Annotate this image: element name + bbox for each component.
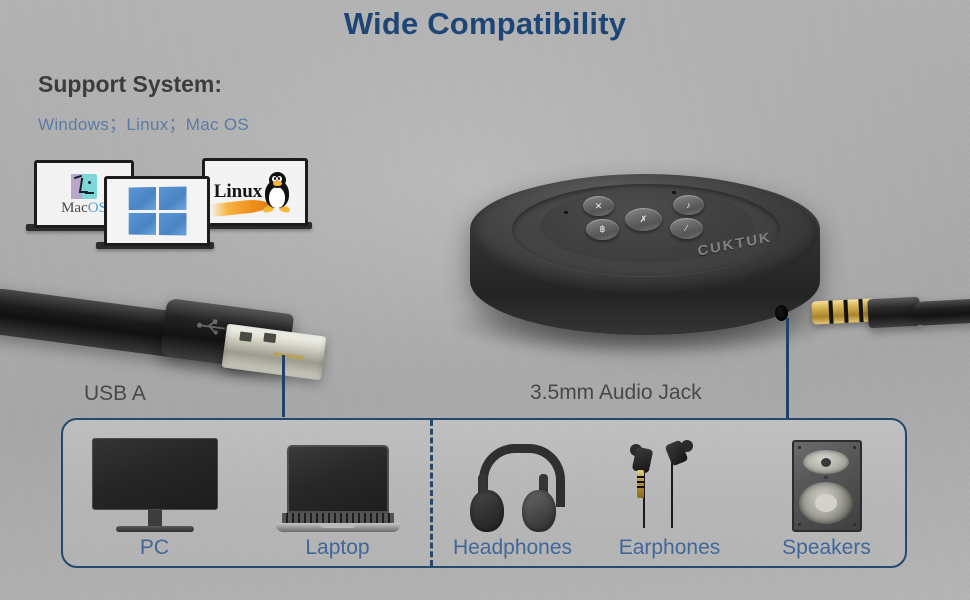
usb-device-row: PC Laptop — [63, 420, 429, 566]
device-button-power[interactable]: ∕ — [670, 218, 703, 239]
jack-leader-line — [786, 318, 789, 418]
mac-finder-face-icon — [71, 174, 97, 199]
headphones-icon — [470, 440, 556, 532]
usb-caption: USB A — [84, 382, 146, 406]
device-item-laptop[interactable]: Laptop — [246, 420, 429, 566]
laptop-screen: Linux — [202, 158, 308, 226]
device-button-volume-down[interactable]: ✕ — [583, 196, 614, 216]
earphones-icon — [618, 440, 722, 532]
linux-wordmark: Linux — [214, 181, 263, 203]
windows-flag-icon — [129, 186, 187, 235]
support-system-list: Windows；Linux；Mac OS — [38, 110, 249, 135]
device-label-laptop: Laptop — [305, 536, 369, 560]
infographic-canvas: Wide Compatibility Support System: Windo… — [0, 0, 970, 600]
usb-a-plug — [222, 324, 327, 381]
laptop-icon — [276, 440, 400, 532]
panel-dashed-divider — [430, 420, 433, 566]
device-label-headphones: Headphones — [453, 536, 572, 560]
device-label-earphones: Earphones — [619, 536, 721, 560]
device-label-speakers: Speakers — [782, 536, 871, 560]
device-item-headphones[interactable]: Headphones — [434, 420, 591, 566]
device-label-pc: PC — [140, 536, 169, 560]
usb-leader-line — [282, 355, 285, 417]
laptop-screen — [104, 176, 210, 246]
page-title: Wide Compatibility — [0, 6, 970, 42]
jack-device-row: Headphones Earphones — [434, 420, 905, 566]
monitor-icon — [92, 440, 218, 532]
device-button-volume-up[interactable]: ♪ — [673, 195, 704, 215]
os-logo-group: MacOS Linux — [26, 158, 326, 250]
device-button-mute[interactable]: ✗ — [625, 208, 662, 231]
support-system-label: Support System: — [38, 71, 222, 98]
speaker-icon — [792, 440, 862, 532]
device-item-earphones[interactable]: Earphones — [591, 420, 748, 566]
jack-caption: 3.5mm Audio Jack — [530, 381, 702, 405]
audio-jack-plug-gold-tip — [811, 298, 874, 324]
device-button-bluetooth[interactable]: ฿ — [586, 219, 619, 240]
mac-os-wordmark: MacOS — [61, 200, 107, 217]
audio-jack-cable — [911, 298, 970, 326]
linux-tux-penguin-icon — [263, 171, 292, 213]
device-item-speakers[interactable]: Speakers — [748, 420, 905, 566]
device-item-pc[interactable]: PC — [63, 420, 246, 566]
